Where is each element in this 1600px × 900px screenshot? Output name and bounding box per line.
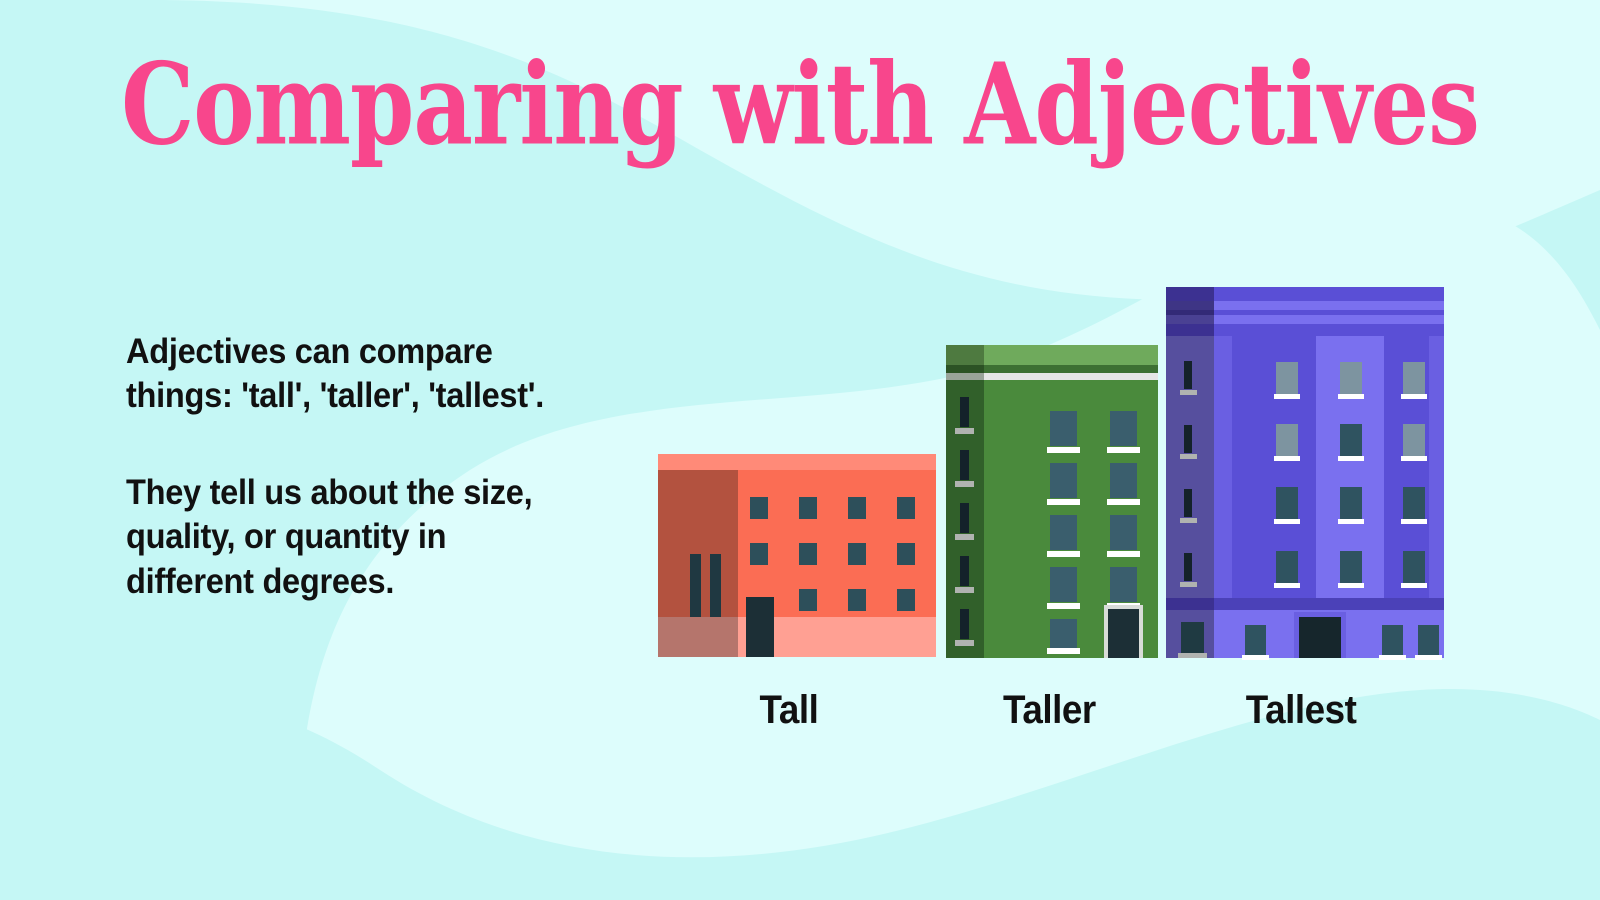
tall-body: [658, 470, 936, 617]
taller-window: [1110, 411, 1137, 446]
tallest-ground-window: [1418, 625, 1439, 656]
taller-sill: [1107, 551, 1140, 557]
tall-window: [848, 589, 866, 611]
tallest-pilaster: [1429, 336, 1444, 598]
tallest-cornice: [1166, 315, 1444, 324]
tallest-window-lit: [1403, 362, 1425, 394]
tall-roof: [658, 454, 936, 470]
taller-side-wing: [946, 380, 984, 658]
taller-slit-window: [960, 556, 969, 586]
taller-window: [1050, 619, 1077, 654]
tallest-slit-sill: [1180, 454, 1197, 459]
tall-window: [848, 543, 866, 565]
taller-sill: [1107, 447, 1140, 453]
tallest-cornice: [1166, 301, 1444, 310]
tall-window: [897, 589, 915, 611]
taller-slit-sill: [955, 428, 974, 434]
tall-side-wing-base: [658, 617, 738, 657]
tallest-sill: [1338, 456, 1364, 461]
caption-taller: Taller: [1003, 688, 1096, 733]
tallest-ground-window: [1181, 622, 1204, 655]
tallest-cornice-side: [1166, 315, 1214, 324]
caption-tallest: Tallest: [1246, 688, 1357, 733]
tall-window: [848, 497, 866, 519]
tallest-slit-window: [1184, 553, 1192, 581]
tallest-sill: [1401, 456, 1427, 461]
taller-sill: [1047, 499, 1080, 505]
tallest-window: [1340, 551, 1362, 583]
taller-cornice-side-light: [946, 373, 984, 380]
tallest-window: [1276, 487, 1298, 519]
tallest-slit-window: [1184, 361, 1192, 389]
tallest-slit-sill: [1180, 390, 1197, 395]
tallest-slit-sill: [1180, 582, 1197, 587]
tall-base: [658, 617, 936, 657]
tallest-side-wing: [1166, 336, 1214, 658]
tallest-ground-floor: [1166, 610, 1444, 658]
taller-slit-window: [960, 397, 969, 427]
tallest-window: [1340, 424, 1362, 456]
paragraph-definition: Adjectives can compare things: 'tall', '…: [126, 330, 563, 419]
taller-window: [1110, 515, 1137, 550]
tall-slit-window: [710, 554, 721, 617]
tallest-sill: [1274, 456, 1300, 461]
slide-root: Comparing with Adjectives Adjectives can…: [0, 0, 1600, 900]
tallest-sill: [1338, 519, 1364, 524]
taller-sill: [1107, 603, 1140, 609]
tallest-body: [1166, 336, 1444, 658]
tallest-window-lit: [1403, 424, 1425, 456]
taller-slit-window: [960, 609, 969, 639]
tallest-cornice-side: [1166, 301, 1214, 310]
tallest-sill: [1401, 583, 1427, 588]
tallest-ground-floor-side: [1166, 610, 1214, 658]
tallest-sill: [1338, 394, 1364, 399]
tallest-slit-sill: [1180, 518, 1197, 523]
tallest-ground-divider: [1166, 598, 1444, 610]
tallest-window-lit: [1276, 424, 1298, 456]
tallest-sill: [1338, 583, 1364, 588]
tallest-cornice-side: [1166, 310, 1214, 315]
tall-window: [799, 497, 817, 519]
taller-slit-window: [960, 503, 969, 533]
tall-slit-window: [690, 554, 701, 617]
taller-slit-sill: [955, 481, 974, 487]
tallest-ground-sill: [1415, 655, 1442, 660]
tallest-window-lit: [1340, 362, 1362, 394]
tallest-ground-sill: [1178, 653, 1207, 658]
body-copy: Adjectives can compare things: 'tall', '…: [126, 330, 596, 604]
tallest-ground-sill: [1379, 655, 1406, 660]
tallest-window: [1403, 487, 1425, 519]
taller-roof-side: [946, 345, 984, 365]
tallest-cornice: [1166, 324, 1444, 336]
taller-window: [1050, 463, 1077, 498]
taller-window: [1050, 515, 1077, 550]
tall-window: [799, 543, 817, 565]
taller-cornice-side-dark: [946, 365, 984, 373]
taller-window: [1110, 567, 1137, 602]
tall-window: [897, 543, 915, 565]
tallest-slit-window: [1184, 489, 1192, 517]
tall-window: [750, 543, 768, 565]
tallest-sill: [1274, 583, 1300, 588]
taller-door-frame: [1104, 605, 1143, 658]
tallest-window: [1340, 487, 1362, 519]
taller-slit-sill: [955, 640, 974, 646]
taller-cornice-light: [946, 373, 1158, 380]
taller-window: [1050, 411, 1077, 446]
building-taller: [946, 345, 1158, 658]
tallest-window-lit: [1276, 362, 1298, 394]
page-title: Comparing with Adjectives: [0, 46, 1600, 164]
tallest-cornice-side: [1166, 324, 1214, 336]
tallest-slit-window: [1184, 425, 1192, 453]
taller-sill: [1107, 499, 1140, 505]
tallest-door: [1299, 617, 1341, 658]
paragraph-usage: They tell us about the size, quality, or…: [126, 471, 563, 604]
tallest-window: [1403, 551, 1425, 583]
tall-window: [750, 497, 768, 519]
taller-door: [1108, 609, 1139, 658]
taller-roof: [946, 345, 1158, 365]
tallest-pilaster: [1316, 336, 1384, 598]
tallest-sill: [1401, 519, 1427, 524]
taller-sill: [1047, 551, 1080, 557]
tallest-pilaster: [1214, 336, 1232, 598]
tall-side-wing: [658, 470, 738, 617]
tall-window: [799, 589, 817, 611]
tallest-door-frame: [1294, 612, 1346, 658]
taller-slit-sill: [955, 534, 974, 540]
tall-door: [746, 597, 774, 657]
tallest-cornice: [1166, 310, 1444, 315]
taller-sill: [1047, 447, 1080, 453]
tallest-sill: [1401, 394, 1427, 399]
building-tall: [658, 454, 936, 657]
taller-slit-window: [960, 450, 969, 480]
taller-sill: [1047, 603, 1080, 609]
taller-window: [1050, 567, 1077, 602]
tall-window: [897, 497, 915, 519]
taller-sill: [1047, 648, 1080, 654]
tallest-window: [1276, 551, 1298, 583]
taller-slit-sill: [955, 587, 974, 593]
taller-cornice-dark: [946, 365, 1158, 373]
tallest-roof-side: [1166, 287, 1214, 301]
tallest-ground-window: [1382, 625, 1403, 656]
tallest-ground-divider-side: [1166, 598, 1214, 610]
tallest-sill: [1274, 394, 1300, 399]
tallest-roof: [1166, 287, 1444, 301]
taller-body: [946, 380, 1158, 658]
taller-window: [1110, 463, 1137, 498]
tallest-sill: [1274, 519, 1300, 524]
building-tallest: [1166, 287, 1444, 660]
tallest-ground-sill: [1242, 655, 1269, 660]
tallest-ground-window: [1245, 625, 1266, 656]
caption-tall: Tall: [760, 688, 819, 733]
